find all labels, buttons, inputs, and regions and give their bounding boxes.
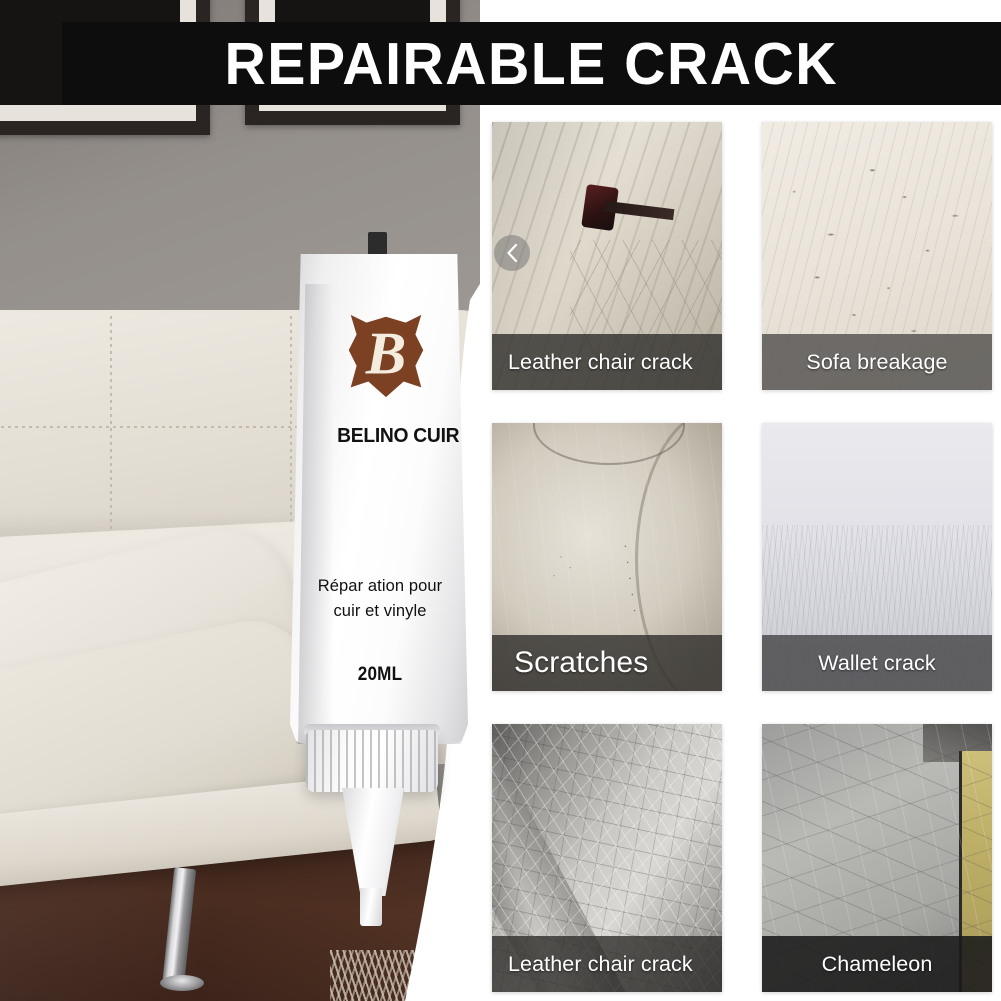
tube-shading [298,284,334,764]
header-banner: REPAIRABLE CRACK [62,22,1001,105]
damage-card-sofa-breakage[interactable]: Sofa breakage [762,122,992,390]
damage-card-leather-chair-crack-2[interactable]: Leather chair crack [492,724,722,992]
chevron-left-icon [505,243,519,263]
leather-hide-logo-icon: B [337,306,435,406]
brand-logo: B BELINO CUIR [334,306,438,448]
surface-rim-top [533,423,684,465]
card-caption: Sofa breakage [762,334,992,390]
tube-volume-text: 20ML [306,664,454,686]
brand-name-text: BELINO CUIR [337,424,435,448]
damage-card-chameleon[interactable]: Chameleon [762,724,992,992]
product-tube: B BELINO CUIR Répar ation pour cuir et v… [290,232,480,862]
shag-rug [330,950,480,1001]
tube-nozzle-tip [360,888,382,926]
card-caption: Chameleon [762,936,992,992]
damage-type-grid: Leather chair crack Sofa breakage Scratc… [492,122,992,992]
logo-letter: B [365,321,407,388]
tube-description-line1: Répar ation pour [298,574,462,599]
product-listing-image: B BELINO CUIR Répar ation pour cuir et v… [0,0,1001,1001]
tube-description-line2: cuir et vinyle [298,599,462,624]
carousel-prev-button[interactable] [494,235,530,271]
damage-card-scratches[interactable]: Scratches [492,423,722,691]
banner-title: REPAIRABLE CRACK [225,30,839,98]
tube-cap-ribbed [306,730,438,792]
sofa-stitch [110,316,112,540]
hide-shape-svg: B [337,306,435,406]
card-caption: Wallet crack [762,635,992,691]
card-caption: Leather chair crack [492,936,722,992]
card-caption: Leather chair crack [492,334,722,390]
damage-card-wallet-crack[interactable]: Wallet crack [762,423,992,691]
tube-body: B BELINO CUIR Répar ation pour cuir et v… [290,254,468,744]
tube-description-block: Répar ation pour cuir et vinyle 20ML [298,574,462,686]
chameleon-shadow [923,724,992,762]
card-caption: Scratches [492,635,722,691]
sofa-leg-foot [160,975,204,991]
